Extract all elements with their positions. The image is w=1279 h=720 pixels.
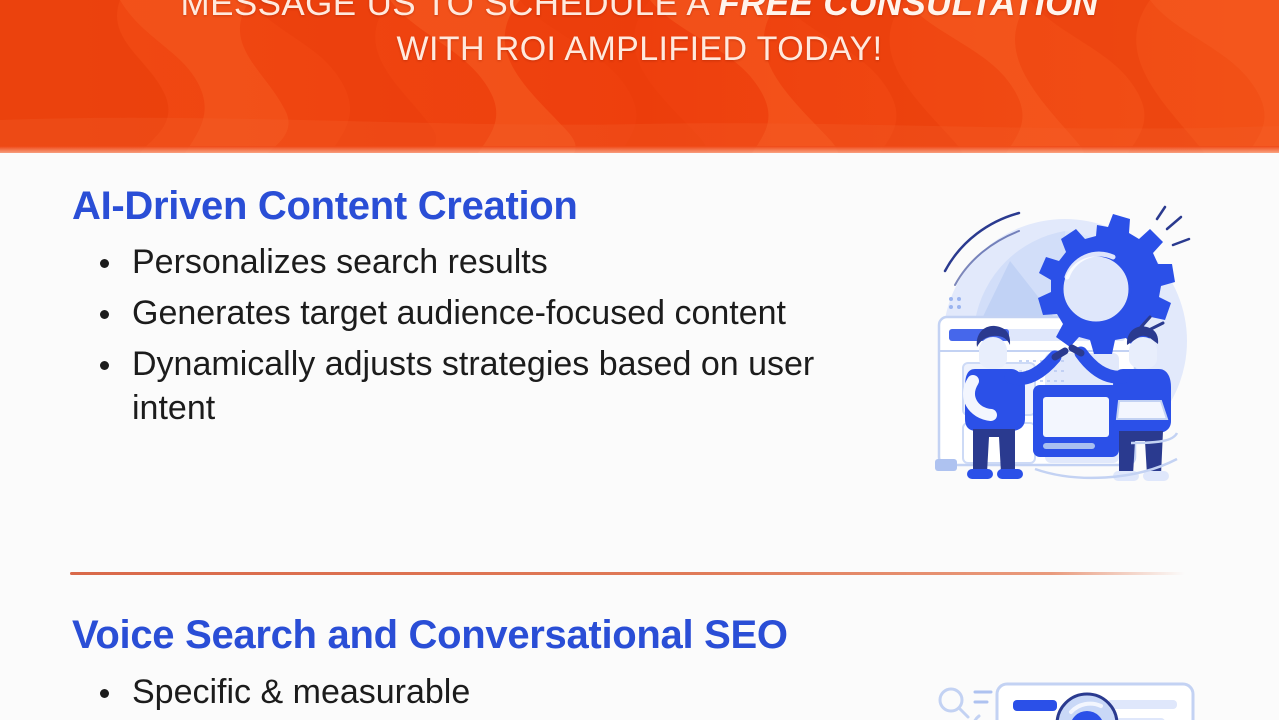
section-divider [70,572,1185,575]
bullet-dot-icon [100,361,109,370]
header-line-1-emphasis: FREE CONSULTATION [718,0,1098,23]
bullet-dot-icon [100,259,109,268]
search-icon [940,689,968,717]
header-line-1: MESSAGE US TO SCHEDULE A FREE CONSULTATI… [0,0,1279,24]
list-item-label: Specific & measurable [132,673,470,711]
header-line-2: WITH ROI AMPLIFIED TODAY! [0,30,1279,69]
header-text-block: MESSAGE US TO SCHEDULE A FREE CONSULTATI… [0,0,1279,153]
content-area: AI-Driven Content Creation Personalizes … [0,153,1279,720]
header-bottom-edge [0,146,1279,153]
bullet-list-section-2: Specific & measurable [86,671,846,720]
list-item-label: Dynamically adjusts strategies based on … [132,345,814,426]
section-heading-ai-driven-content-creation: AI-Driven Content Creation [72,184,578,229]
bullet-dot-icon [100,689,109,698]
section-heading-voice-search-and-conversational-seo: Voice Search and Conversational SEO [72,613,788,658]
bullet-list-section-1: Personalizes search results Generates ta… [86,241,846,438]
header-line-1-prefix: MESSAGE US TO SCHEDULE A [181,0,719,23]
list-item: Generates target audience-focused conten… [86,292,846,335]
list-item: Specific & measurable [86,671,846,714]
list-item-label: Personalizes search results [132,243,548,281]
list-item: Personalizes search results [86,241,846,284]
infographic-slide: MESSAGE US TO SCHEDULE A FREE CONSULTATI… [0,0,1279,720]
content-automation-illustration [915,201,1205,491]
voice-search-card-illustration [935,672,1235,720]
bullet-dot-icon [100,310,109,319]
list-item-label: Generates target audience-focused conten… [132,294,786,332]
list-item: Dynamically adjusts strategies based on … [86,343,846,429]
header-banner: MESSAGE US TO SCHEDULE A FREE CONSULTATI… [0,0,1279,153]
